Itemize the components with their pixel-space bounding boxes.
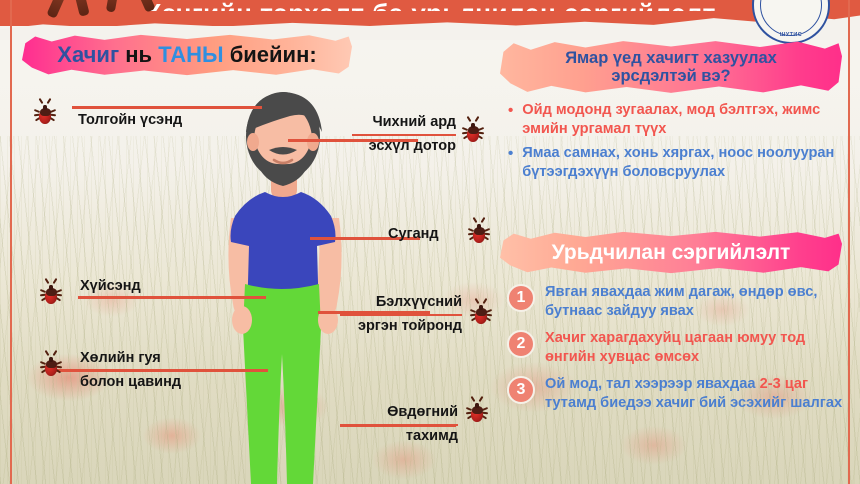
heading-word-2: нь [125,42,152,67]
step-number-badge: 2 [507,330,535,358]
risk-bullet-list: • Ойд модонд зугаалах, мод бэлтгэх, жимс… [508,101,844,188]
label-knee-back-line1: Өвдөгний [387,404,458,420]
prevention-step-text: Явган явахдаа жим дагаж, өндөр өвс, бутн… [545,283,847,321]
label-waist-line2: эргэн тойронд [358,318,462,334]
label-thigh-groin-line1: Хөлийн гуя [80,350,161,366]
label-head-hair: Толгойн үсэнд [78,112,182,130]
bullet-dot-icon: • [508,101,513,138]
risk-heading-banner: Ямар үед хачигт хазуулах эрсдэлтэй вэ? [500,40,842,94]
prevention-step: 1 Явган явахдаа жим дагаж, өндөр өвс, бу… [507,283,847,321]
frame-line-right [848,0,850,484]
label-behind-ear-line2: эсхүл дотор [369,138,456,154]
tick-icon-head-hair [34,100,56,126]
risk-bullet-text: Ойд модонд зугаалах, мод бэлтгэх, жимс э… [522,101,844,138]
label-knee-back-line2: тахимд [406,428,458,444]
pants [243,284,321,484]
risk-bullet-text: Ямаа самнах, хонь хяргах, ноос ноолууран… [522,144,844,181]
tick-icon-behind-ear [462,118,484,144]
risk-heading-line1: Ямар үед хачигт хазуулах [565,49,777,67]
heading-word-1: Хачиг [57,42,119,67]
risk-heading-line2: эрсдэлтэй вэ? [565,67,777,85]
bearded-man-figure [215,88,355,484]
label-navel: Хүйсэнд [80,278,141,296]
label-navel-line1: Хүйсэнд [80,278,141,294]
risk-bullet-item: • Ойд модонд зугаалах, мод бэлтгэх, жимс… [508,101,844,138]
risk-bullet-item: • Ямаа самнах, хонь хяргах, ноос ноолуур… [508,144,844,181]
prevention-step-text: Ой мод, тал хээрээр явахдаа 2-3 цаг тута… [545,375,847,413]
prevention-step: 2 Хачиг харагдахуйц цагаан юмуу тод өнги… [507,329,847,367]
label-thigh-groin-line2: болон цавинд [80,374,181,390]
prevention-step: 3 Ой мод, тал хээрээр явахдаа 2-3 цаг ту… [507,375,847,413]
tick-icon-armpit [468,219,490,245]
left-heading-banner: Хачиг нь ТАНЫ биейин: [22,34,352,76]
label-rule-knee-back [360,424,458,427]
ear-left [247,133,259,151]
prevention-heading-banner: Урьдчилан сэргийлэлт [500,231,842,274]
label-knee-back: Өвдөгний тахимд [360,404,458,446]
seal-label: ШУТИС [754,32,828,38]
connector-navel [78,296,266,299]
prevention-step-list: 1 Явган явахдаа жим дагаж, өндөр өвс, бу… [507,283,847,421]
risk-heading-text: Ямар үед хачигт хазуулах эрсдэлтэй вэ? [549,49,793,86]
label-behind-ear: Чихний ард эсхүл дотор [352,114,456,156]
left-heading-text: Хачиг нь ТАНЫ биейин: [41,43,332,68]
frame-line-left [10,0,12,484]
prevention-heading-text: Урьдчилан сэргийлэлт [536,241,807,265]
hand-left [232,306,252,334]
label-armpit: Суганд [388,226,439,244]
label-behind-ear-line1: Чихний ард [372,114,456,130]
label-waist: Бэлхүүсний эргэн тойронд [340,294,462,336]
step-number-badge: 1 [507,284,535,312]
step3-text-pre: Ой мод, тал хээрээр явахдаа [545,376,760,392]
label-head-hair-line1: Толгойн үсэнд [78,112,182,128]
tick-icon-navel [40,280,62,306]
label-rule-behind-ear [352,134,456,137]
heading-word-4: биейин: [230,42,317,67]
label-rule-thigh-groin [80,370,181,373]
connector-head-hair [72,106,262,109]
label-rule-waist [340,314,462,317]
bullet-dot-icon: • [508,144,513,181]
label-armpit-line1: Суганд [388,226,439,242]
infographic-poster: Хачгийн тархалт ба урьдчилан сэргийлэлт … [0,0,860,484]
label-waist-line1: Бэлхүүсний [376,294,462,310]
prevention-step-text: Хачиг харагдахуйц цагаан юмуу тод өнгийн… [545,329,847,367]
tick-icon-thigh-groin [40,352,62,378]
step3-highlight: 2-3 цаг [760,376,809,392]
step-number-badge: 3 [507,376,535,404]
organization-seal-logo: ШУТИС [752,0,830,44]
ear-right [307,133,319,151]
tick-icon-waist [470,300,492,326]
step3-text-post: тутамд биедээ хачиг бий эсэхийг шалгах [545,395,842,411]
heading-word-3: ТАНЫ [158,42,223,67]
tick-icon-knee-back [466,398,488,424]
large-tick-legs-decor [46,0,196,18]
label-thigh-groin: Хөлийн гуя болон цавинд [80,350,181,392]
